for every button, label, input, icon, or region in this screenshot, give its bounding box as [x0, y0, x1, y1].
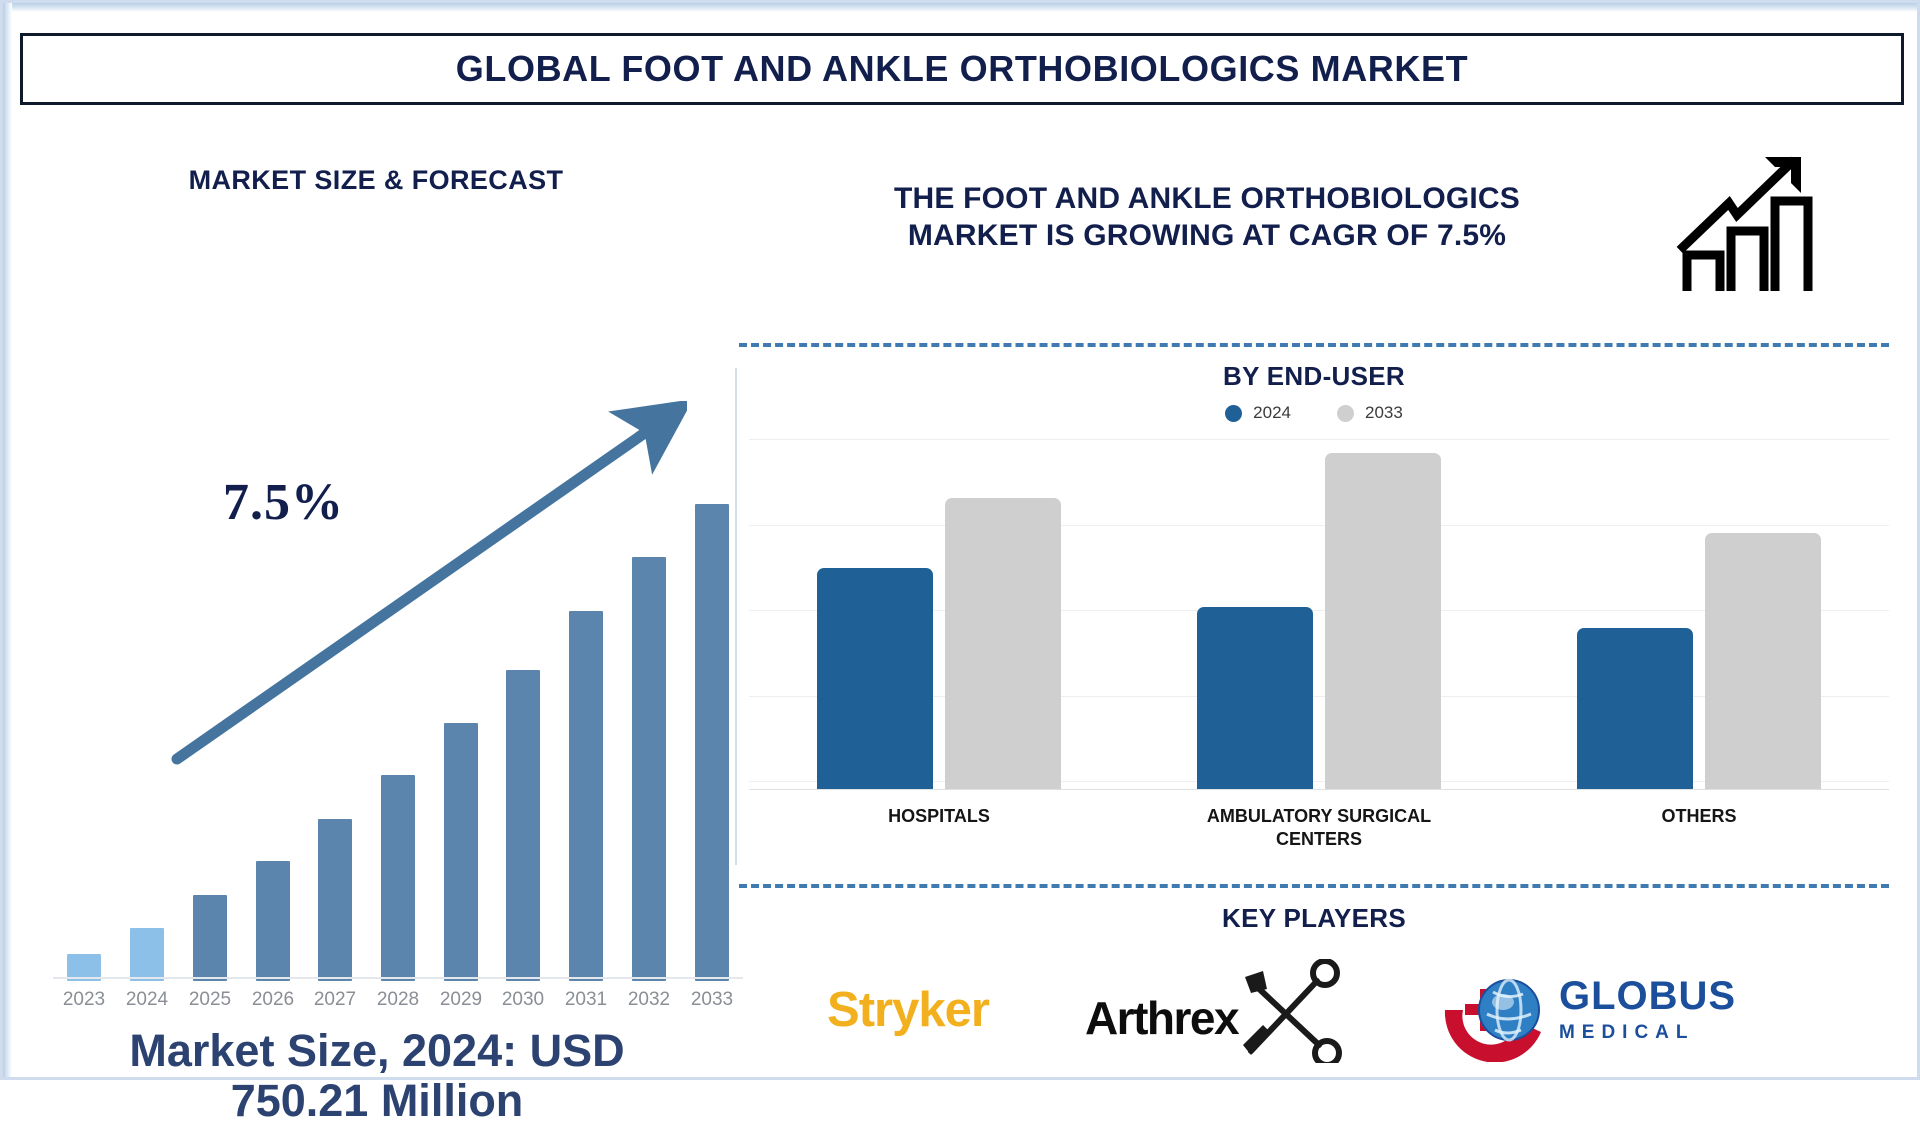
arthrex-scissors-icon: [1233, 959, 1343, 1063]
end-user-category-label: HOSPITALS: [789, 805, 1089, 828]
market-size-line-1: Market Size, 2024: USD: [27, 1026, 727, 1076]
left-chart-year-label: 2032: [618, 989, 680, 1011]
end-user-bar-2024: [1577, 628, 1693, 789]
left-chart-bar: [506, 670, 540, 981]
globus-logo-name: GLOBUS: [1559, 976, 1736, 1016]
cagr-headline-line-2: MARKET IS GROWING AT CAGR OF 7.5%: [757, 218, 1657, 255]
left-chart-year-label: 2026: [242, 989, 304, 1011]
left-chart-baseline: [53, 977, 743, 979]
growth-bar-chart-arrow-icon: [1673, 143, 1833, 293]
end-user-bar-2024: [1197, 607, 1313, 789]
title-box: GLOBAL FOOT AND ANKLE ORTHOBIOLOGICS MAR…: [20, 33, 1904, 105]
group-chart-baseline: [749, 789, 1889, 790]
left-chart-bar: [381, 775, 415, 981]
by-end-user-heading: BY END-USER: [739, 361, 1889, 392]
end-user-bar-2033: [1325, 453, 1441, 789]
left-chart-bar: [695, 504, 729, 981]
divider-top: [739, 343, 1889, 347]
market-size-line-2: 750.21 Million: [27, 1076, 727, 1126]
legend-item-2024[interactable]: 2024: [1225, 403, 1291, 423]
arthrex-logo: Arthrex: [1085, 991, 1238, 1045]
left-chart-bar: [444, 723, 478, 981]
player-logo-stryker[interactable]: Stryker: [827, 955, 989, 1065]
page-title: GLOBAL FOOT AND ANKLE ORTHOBIOLOGICS MAR…: [456, 48, 1468, 90]
left-chart-year-label: 2025: [179, 989, 241, 1011]
end-user-category-axis: HOSPITALSAMBULATORY SURGICAL CENTERSOTHE…: [749, 805, 1889, 875]
legend-swatch-icon: [1225, 405, 1242, 422]
left-chart-bar: [632, 557, 666, 981]
left-chart-bar: [130, 928, 164, 981]
market-forecast-bar-chart: [53, 471, 743, 981]
left-panel: MARKET SIZE & FORECAST 7.5% 202320242025…: [17, 121, 735, 1069]
left-chart-bar: [569, 611, 603, 981]
gridline: [749, 525, 1889, 526]
left-chart-year-label: 2029: [430, 989, 492, 1011]
left-chart-year-label: 2031: [555, 989, 617, 1011]
left-chart-year-label: 2033: [681, 989, 743, 1011]
globus-logo-subtitle: MEDICAL: [1559, 1022, 1736, 1044]
left-chart-year-label: 2028: [367, 989, 429, 1011]
end-user-bar-2033: [945, 498, 1061, 789]
market-size-forecast-heading: MARKET SIZE & FORECAST: [17, 165, 735, 196]
legend-item-2033[interactable]: 2033: [1337, 403, 1403, 423]
stryker-logo: Stryker: [827, 982, 989, 1038]
legend-label: 2024: [1253, 403, 1291, 423]
end-user-bar-2024: [817, 568, 933, 789]
legend-swatch-icon: [1337, 405, 1354, 422]
left-chart-bar: [256, 861, 290, 981]
left-chart-bar: [193, 895, 227, 981]
key-players-row: Stryker Arthrex: [739, 951, 1889, 1069]
right-panel: THE FOOT AND ANKLE ORTHOBIOLOGICS MARKET…: [739, 121, 1907, 1069]
globus-globe-icon: [1441, 958, 1549, 1062]
left-chart-year-label: 2024: [116, 989, 178, 1011]
left-chart-year-axis: 2023202420252026202720282029203020312032…: [53, 989, 743, 1019]
end-user-bar-2033: [1705, 533, 1821, 789]
infographic-page: GLOBAL FOOT AND ANKLE ORTHOBIOLOGICS MAR…: [0, 0, 1920, 1080]
chart-legend: 20242033: [739, 403, 1889, 423]
left-chart-year-label: 2027: [304, 989, 366, 1011]
left-chart-year-label: 2023: [53, 989, 115, 1011]
end-user-category-label: AMBULATORY SURGICAL CENTERS: [1169, 805, 1469, 852]
legend-label: 2033: [1365, 403, 1403, 423]
left-chart-bar: [318, 819, 352, 981]
left-chart-year-label: 2030: [492, 989, 554, 1011]
player-logo-globus-medical[interactable]: GLOBUS MEDICAL: [1441, 955, 1801, 1065]
gridline: [749, 439, 1889, 440]
cagr-headline: THE FOOT AND ANKLE ORTHOBIOLOGICS MARKET…: [757, 181, 1657, 254]
key-players-heading: KEY PLAYERS: [739, 903, 1889, 934]
end-user-grouped-bar-chart: [749, 439, 1889, 789]
end-user-category-label: OTHERS: [1549, 805, 1849, 828]
market-size-callout: Market Size, 2024: USD 750.21 Million: [27, 1026, 727, 1127]
divider-bottom: [739, 884, 1889, 888]
cagr-headline-line-1: THE FOOT AND ANKLE ORTHOBIOLOGICS: [757, 181, 1657, 218]
player-logo-arthrex[interactable]: Arthrex: [1085, 955, 1345, 1065]
